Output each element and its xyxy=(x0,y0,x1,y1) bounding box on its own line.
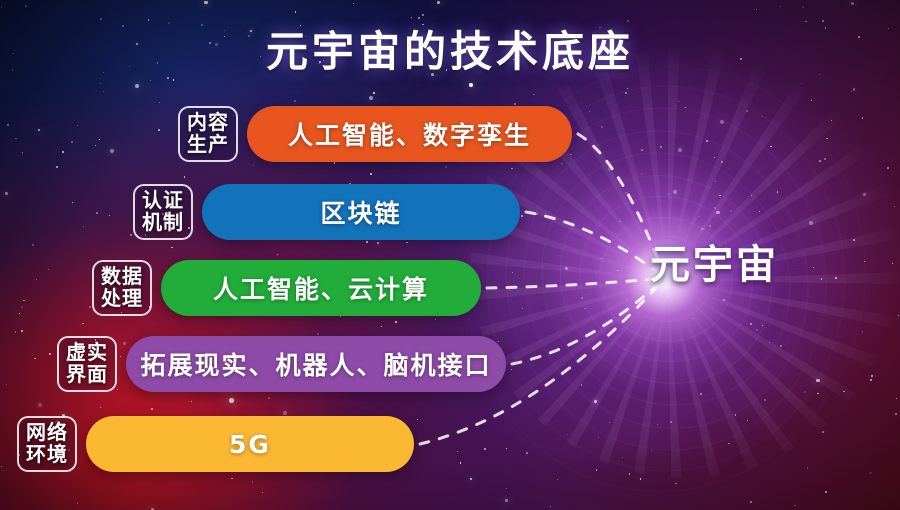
layer-tag[interactable]: 数据处理 xyxy=(92,260,152,316)
layer-bar[interactable]: 拓展现实、机器人、脑机接口 xyxy=(126,336,506,392)
layer-tag-line2: 生产 xyxy=(187,134,229,156)
page-title: 元宇宙的技术底座 xyxy=(0,18,900,79)
layer-row: 认证机制区块链 xyxy=(133,184,520,240)
layer-tag-line1: 认证 xyxy=(142,190,184,212)
layer-tag-line2: 界面 xyxy=(66,364,108,386)
layer-row: 虚实界面拓展现实、机器人、脑机接口 xyxy=(57,336,506,392)
metaverse-center-label: 元宇宙 xyxy=(650,232,779,290)
layer-tag[interactable]: 虚实界面 xyxy=(57,336,117,392)
layer-tag[interactable]: 认证机制 xyxy=(133,184,193,240)
layer-tag-line1: 内容 xyxy=(187,112,229,134)
layer-row: 网络环境5G xyxy=(17,416,414,472)
layer-tag-line2: 环境 xyxy=(26,444,68,466)
layer-tag-line1: 虚实 xyxy=(66,342,108,364)
layer-tag[interactable]: 网络环境 xyxy=(17,416,77,472)
layer-tag-line1: 数据 xyxy=(101,266,143,288)
layer-bar[interactable]: 区块链 xyxy=(202,184,520,240)
layer-row: 内容生产人工智能、数字孪生 xyxy=(178,106,572,162)
infographic-canvas: 元宇宙的技术底座 内容生产人工智能、数字孪生认证机制区块链数据处理人工智能、云计… xyxy=(0,0,900,510)
layer-bar[interactable]: 5G xyxy=(86,416,414,472)
layer-tag[interactable]: 内容生产 xyxy=(178,106,238,162)
layer-tag-line2: 处理 xyxy=(101,288,143,310)
layer-bar[interactable]: 人工智能、云计算 xyxy=(161,260,481,316)
layer-tag-line2: 机制 xyxy=(142,212,184,234)
layer-row: 数据处理人工智能、云计算 xyxy=(92,260,481,316)
layer-tag-line1: 网络 xyxy=(26,422,68,444)
layer-bar[interactable]: 人工智能、数字孪生 xyxy=(247,106,572,162)
